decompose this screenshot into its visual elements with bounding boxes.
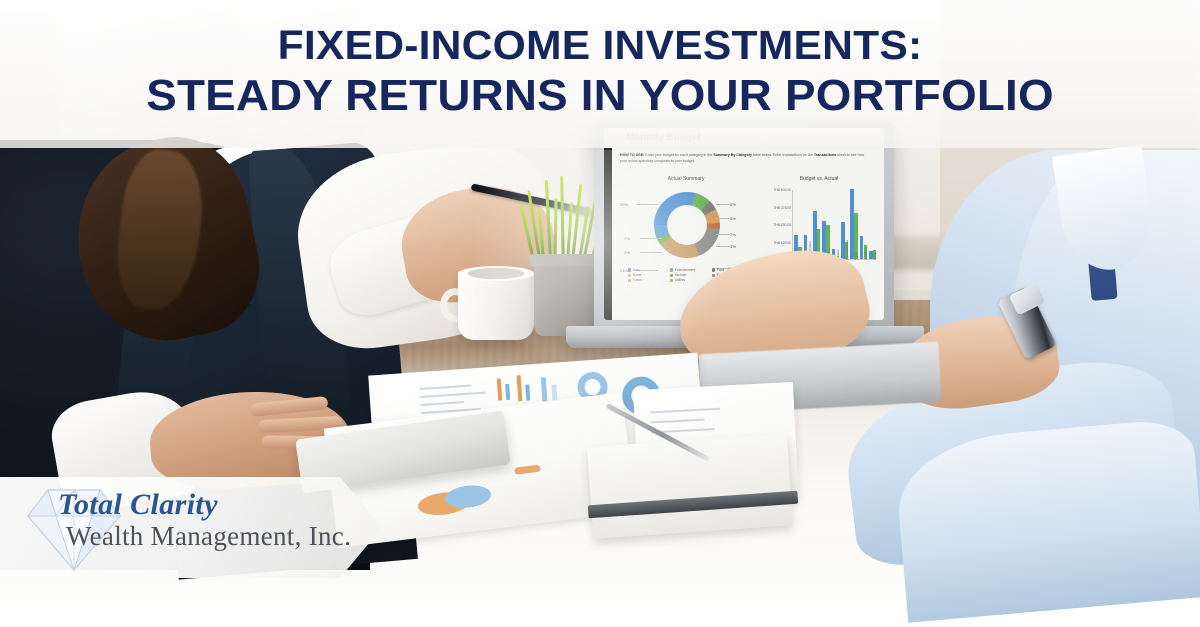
bar-chart-title: Budget vs. Actual (756, 176, 882, 182)
title-line-2: Steady Returns in Your Portfolio (0, 70, 1200, 121)
mug-rim (458, 266, 534, 281)
donut-leader-line (716, 246, 730, 247)
legend-label: Entertainment (675, 268, 696, 272)
spreadsheet-sidebar (604, 148, 612, 320)
legend-item: Auto (628, 268, 670, 272)
legend-swatch (670, 279, 673, 282)
donut-percent-label: 8% (730, 202, 736, 207)
howto-bold2: Transactions (814, 153, 836, 157)
brand-name-secondary: Wealth Management, Inc. (66, 521, 358, 551)
donut-percent-label: 21% (620, 268, 628, 273)
donut-hole (667, 205, 707, 245)
donut-percent-label: 3% (730, 244, 736, 249)
plant-pot (534, 258, 600, 336)
legend-item: Home (628, 273, 670, 277)
howto-part2: table below. Enter transactions on the (752, 153, 814, 157)
donut (654, 192, 720, 258)
logo-text: Total Clarity Wealth Management, Inc. (58, 490, 358, 551)
x-axis-tick: Other (873, 253, 877, 261)
legend-swatch (670, 274, 673, 277)
legend-swatch (628, 279, 631, 282)
legend-swatch (628, 274, 631, 277)
legend-swatch (670, 268, 673, 271)
legend-label: Medical (675, 273, 686, 277)
donut-leader-line (716, 234, 730, 235)
donut-percent-label: 7% (624, 236, 630, 241)
y-axis-tick: THB 250.00 (773, 223, 791, 227)
x-axis-tick: Travel (854, 252, 858, 260)
x-axis-tick: Utilities (864, 251, 868, 261)
x-axis-tick: Personal Items (845, 240, 849, 260)
plant-pot-rim (530, 254, 604, 266)
page-title: Fixed-Income Investments: Steady Returns… (0, 22, 1200, 121)
y-axis-tick: THB 500.00 (773, 188, 791, 192)
bar-budget (860, 236, 863, 259)
donut-leader-line (716, 204, 730, 205)
legend-item: Medical (670, 273, 712, 277)
howto-prefix: HOW TO USE: (620, 153, 644, 157)
legend-item: Entertainment (670, 268, 712, 272)
legend-item: Utilities (670, 278, 712, 282)
donut-leader-line (640, 238, 662, 239)
banner-graphic: Monthly Budget HOW TO USE: Enter your bu… (0, 0, 1200, 627)
donut-percent-label: 5% (730, 216, 736, 221)
how-to-use-text: HOW TO USE: Enter your budget for each c… (620, 153, 870, 164)
donut-percent-label: 29% (620, 202, 628, 207)
y-axis-tick: THB 375.00 (773, 206, 791, 210)
title-line-1: Fixed-Income Investments: (278, 22, 923, 68)
howto-bold1: Summary By Category (713, 153, 752, 157)
y-axis-tick: THB 125.00 (773, 241, 791, 245)
brand-name-primary: Total Clarity (58, 490, 358, 520)
legend-label: Travel (633, 278, 642, 282)
donut-leader-line (636, 204, 658, 205)
donut-leader-line (640, 252, 662, 253)
legend-swatch (628, 268, 631, 271)
donut-percent-label: 7% (730, 232, 736, 237)
donut-percent-label: 3% (624, 250, 630, 255)
legend-swatch (712, 268, 715, 271)
legend-label: Home (633, 273, 642, 277)
legend-label: Auto (633, 268, 640, 272)
legend-item: Travel (628, 278, 670, 282)
donut-chart-title: Actual Summary (616, 176, 756, 182)
donut-leader-line (716, 218, 730, 219)
howto-part1: Enter your budget for each category in t… (644, 153, 713, 157)
legend-label: Utilities (675, 278, 686, 282)
